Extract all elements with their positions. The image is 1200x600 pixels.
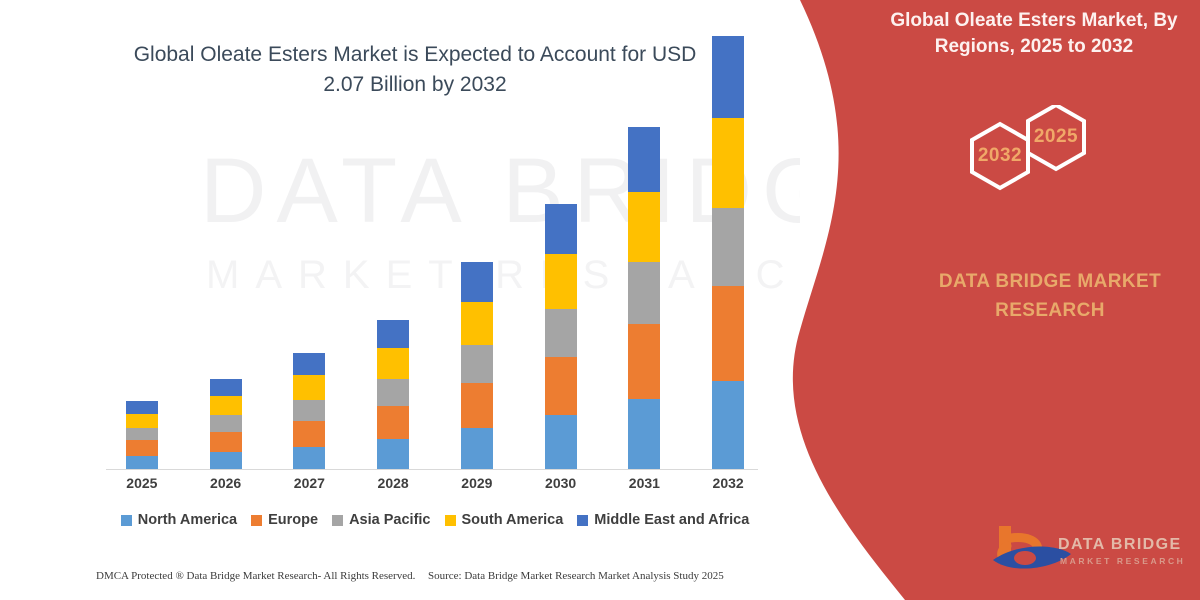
- legend-label: Asia Pacific: [349, 512, 430, 528]
- bar-column: [355, 139, 431, 469]
- bar-segment[interactable]: [461, 345, 493, 383]
- bar-segment[interactable]: [545, 415, 577, 469]
- bar-segment[interactable]: [377, 320, 409, 348]
- legend-label: Europe: [268, 512, 318, 528]
- bar-segment[interactable]: [377, 348, 409, 379]
- bar-segment[interactable]: [712, 118, 744, 208]
- bar-segment[interactable]: [210, 379, 242, 396]
- legend-item[interactable]: South America: [445, 512, 564, 528]
- bar-segment[interactable]: [210, 396, 242, 415]
- stacked-bar[interactable]: [628, 127, 660, 469]
- bar-segment[interactable]: [545, 357, 577, 415]
- legend-label: South America: [462, 512, 564, 528]
- legend-label: Middle East and Africa: [594, 512, 749, 528]
- stacked-bar[interactable]: [712, 36, 744, 469]
- bar-segment[interactable]: [712, 286, 744, 381]
- x-axis-tick-label: 2026: [188, 475, 264, 491]
- x-axis-tick-label: 2027: [271, 475, 347, 491]
- x-axis-tick-label: 2031: [606, 475, 682, 491]
- bar-segment[interactable]: [210, 432, 242, 452]
- x-axis-tick-label: 2030: [523, 475, 599, 491]
- bar-segment[interactable]: [712, 36, 744, 118]
- bar-segment[interactable]: [628, 127, 660, 192]
- panel-title: Global Oleate Esters Market, By Regions,…: [876, 8, 1192, 60]
- legend-swatch-icon: [332, 515, 343, 526]
- bar-segment[interactable]: [628, 192, 660, 262]
- hexagon-2032-label: 2032: [972, 145, 1028, 167]
- bar-segment[interactable]: [712, 208, 744, 286]
- page-title: Global Oleate Esters Market is Expected …: [120, 40, 710, 100]
- bar-segment[interactable]: [293, 353, 325, 375]
- bar-segment[interactable]: [293, 421, 325, 447]
- bar-column: [104, 139, 180, 469]
- bar-segment[interactable]: [545, 309, 577, 357]
- stacked-bar[interactable]: [293, 353, 325, 469]
- stacked-bar[interactable]: [210, 379, 242, 469]
- legend-swatch-icon: [577, 515, 588, 526]
- bar-segment[interactable]: [293, 375, 325, 400]
- legend-item[interactable]: Asia Pacific: [332, 512, 430, 528]
- bar-segment[interactable]: [210, 452, 242, 469]
- chart-legend: North AmericaEuropeAsia PacificSouth Ame…: [100, 512, 770, 528]
- bar-segment[interactable]: [126, 456, 158, 469]
- bar-group: [100, 139, 770, 469]
- bar-segment[interactable]: [628, 399, 660, 469]
- bar-segment[interactable]: [210, 415, 242, 432]
- bar-column: [271, 139, 347, 469]
- legend-item[interactable]: North America: [121, 512, 237, 528]
- bar-column: [606, 139, 682, 469]
- legend-swatch-icon: [251, 515, 262, 526]
- legend-item[interactable]: Europe: [251, 512, 318, 528]
- x-axis-tick-label: 2032: [690, 475, 766, 491]
- bar-segment[interactable]: [461, 302, 493, 345]
- legend-item[interactable]: Middle East and Africa: [577, 512, 749, 528]
- bar-segment[interactable]: [126, 440, 158, 456]
- legend-swatch-icon: [445, 515, 456, 526]
- bar-segment[interactable]: [545, 254, 577, 309]
- legend-swatch-icon: [121, 515, 132, 526]
- bar-segment[interactable]: [377, 406, 409, 439]
- bar-segment[interactable]: [377, 379, 409, 406]
- legend-label: North America: [138, 512, 237, 528]
- bar-segment[interactable]: [461, 428, 493, 469]
- bar-column: [439, 139, 515, 469]
- bar-column: [690, 139, 766, 469]
- bar-column: [188, 139, 264, 469]
- bar-column: [523, 139, 599, 469]
- bar-segment[interactable]: [126, 401, 158, 414]
- logo-text-primary: DATA BRIDGE: [1058, 536, 1182, 554]
- footer-source: Source: Data Bridge Market Research Mark…: [428, 570, 724, 582]
- stacked-bar[interactable]: [461, 262, 493, 469]
- x-axis-line: [106, 469, 758, 470]
- stacked-bar[interactable]: [126, 401, 158, 469]
- stacked-bar[interactable]: [545, 204, 577, 469]
- bar-segment[interactable]: [126, 414, 158, 428]
- bar-segment[interactable]: [293, 400, 325, 421]
- brand-name: DATA BRIDGE MARKET RESEARCH: [900, 268, 1200, 325]
- x-axis-tick-label: 2029: [439, 475, 515, 491]
- hexagon-2025-label: 2025: [1028, 126, 1084, 148]
- bar-segment[interactable]: [293, 447, 325, 469]
- bar-segment[interactable]: [126, 428, 158, 440]
- bar-segment[interactable]: [628, 324, 660, 399]
- x-axis-tick-label: 2028: [355, 475, 431, 491]
- bar-segment[interactable]: [461, 383, 493, 428]
- bar-segment[interactable]: [377, 439, 409, 469]
- x-axis-tick-label: 2025: [104, 475, 180, 491]
- stacked-bar[interactable]: [377, 320, 409, 469]
- hexagon-group: 2032 2025: [930, 105, 1120, 225]
- bar-segment[interactable]: [545, 204, 577, 254]
- bar-segment[interactable]: [628, 262, 660, 324]
- bar-segment[interactable]: [461, 262, 493, 302]
- footer-copyright: DMCA Protected ® Data Bridge Market Rese…: [96, 570, 415, 582]
- infographic-canvas: DATA BRIDGE MARKET RESEARCH Global Oleat…: [0, 0, 1200, 600]
- stacked-bar-chart: 20252026202720282029203020312032: [100, 130, 770, 470]
- logo-text-secondary: MARKET RESEARCH: [1060, 556, 1185, 566]
- bar-segment[interactable]: [712, 381, 744, 469]
- x-axis-labels: 20252026202720282029203020312032: [100, 475, 770, 491]
